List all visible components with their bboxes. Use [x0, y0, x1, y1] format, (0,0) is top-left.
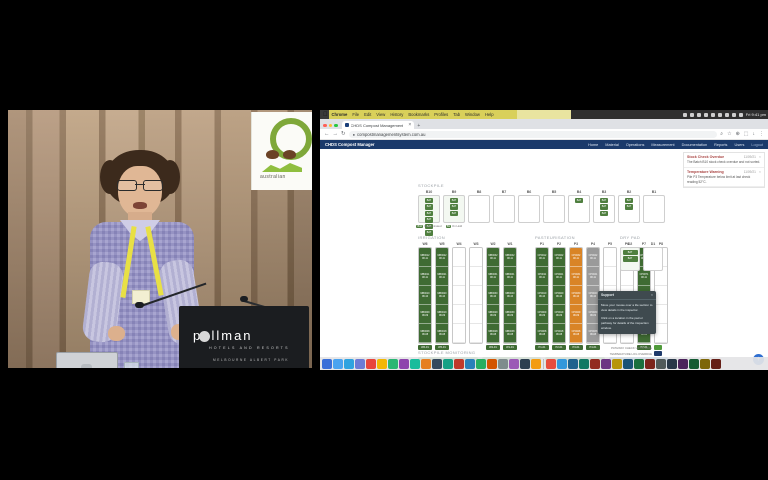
dock-app-icon[interactable] — [355, 359, 365, 369]
irrigation-cell-date: 08-09 — [490, 314, 496, 317]
maximize-window-icon[interactable] — [334, 124, 338, 128]
pasteurisation-cell-date: 08-08 — [590, 333, 596, 336]
stockpile-batch-chip[interactable]: BAT — [425, 204, 434, 210]
irrigation-cell-stack: MB003208-11MB003108-11MB003008-10MB00290… — [486, 247, 500, 344]
menu-help[interactable]: Help — [485, 112, 494, 117]
irrigation-cell[interactable]: MB003808-08 — [504, 324, 516, 343]
stockpile-bin-label: B9 — [443, 190, 465, 194]
tooltip-paragraph-2: Click on a location in the pad or pathwa… — [598, 316, 656, 334]
minimize-window-icon[interactable] — [329, 124, 333, 128]
irrigation-cell[interactable] — [453, 305, 465, 324]
dock-app-icon[interactable] — [509, 359, 519, 369]
alerts-panel: Stock Check Overdue 11/09/21 × The Batch… — [683, 152, 765, 188]
dry-pad-bin-box[interactable] — [643, 247, 663, 271]
irrigation-cell[interactable] — [470, 248, 482, 267]
irrigation-cell[interactable]: MB003008-10 — [487, 286, 499, 305]
irrigation-section: IRRIGATION W6MB001208-11MB001108-11MB001… — [418, 235, 517, 350]
zoom-search-icon[interactable]: ⌕ — [720, 131, 723, 137]
irrigation-cell-date: 08-10 — [490, 295, 496, 298]
pasteurisation-column[interactable]: P3CP003208-11CP003108-11CP003008-10CP002… — [569, 242, 583, 350]
irrigation-cell[interactable] — [470, 305, 482, 324]
alert-header: Temperature Warning 11/09/21 × — [687, 170, 761, 174]
dock-app-icon[interactable] — [531, 359, 541, 369]
app-brand[interactable]: CHDS Compost Manager — [325, 142, 375, 147]
stockpile-bin-label: B1 — [643, 190, 665, 194]
pasteurisation-column-label: P4 — [586, 242, 600, 246]
irrigation-cell-date: 08-08 — [439, 333, 445, 336]
irrigation-cell[interactable]: MB004008-10 — [504, 286, 516, 305]
dock-app-icon[interactable] — [590, 359, 600, 369]
stockpile-bin-box[interactable] — [643, 195, 665, 223]
presenter — [86, 150, 194, 368]
stockpile-bins: B10BATBATBATBATBATBATB10ContaminatedB9BA… — [418, 190, 668, 228]
menu-history[interactable]: History — [390, 112, 403, 117]
nav-documentation[interactable]: Documentation — [682, 143, 708, 147]
nav-measurement[interactable]: Measurement — [651, 143, 674, 147]
stockpile-bin-footer-chip: B9 — [446, 225, 451, 228]
address-bar-url: compostmanagementsystem.com.au — [357, 132, 425, 137]
dock-app-icon[interactable] — [645, 359, 655, 369]
pasteurisation-cell-date: 08-10 — [556, 295, 562, 298]
app-content: Stock Check Overdue 11/09/21 × The Batch… — [320, 149, 768, 370]
irrigation-cell[interactable]: MB002208-11 — [436, 248, 448, 267]
pasteurisation-column-label: P2 — [552, 242, 566, 246]
dock-app-icon[interactable] — [487, 359, 497, 369]
irrigation-cell[interactable]: MB003108-11 — [487, 267, 499, 286]
pasteurisation-cell[interactable]: CP002108-11 — [553, 267, 565, 286]
pasteurisation-cell-stack: CP001208-11CP001108-11CP001008-10CP00090… — [535, 247, 549, 344]
dock-app-icon[interactable] — [623, 359, 633, 369]
browser-tab-strip: CHDS Compost Management × + — [320, 119, 768, 129]
stockpile-bin-label: B2 — [618, 190, 640, 194]
water-glass — [124, 362, 139, 368]
dock-app-icon[interactable] — [443, 359, 453, 369]
chrome-menu-icon[interactable]: ⋮ — [759, 131, 764, 137]
stockpile-bin[interactable]: B2BATBAT — [618, 190, 640, 223]
dry-pad-bin-label: D2 — [620, 242, 640, 246]
menu-bar-status-items: Fri 9:41 pm — [683, 110, 766, 119]
stockpile-bin[interactable]: B10BATBATBATBATBATBATB10Contaminated — [418, 190, 440, 228]
pasteurisation-cell[interactable]: CP004108-11 — [587, 267, 599, 286]
irrigation-cell[interactable] — [453, 267, 465, 286]
stockpile-batch-chip[interactable]: BAT — [625, 204, 634, 210]
reload-icon[interactable]: ↻ — [341, 131, 346, 137]
irrigation-cell-date: 08-11 — [507, 257, 513, 260]
menu-bar-clock[interactable]: Fri 9:41 pm — [746, 112, 766, 117]
pasteurisation-cell[interactable]: CP002808-08 — [570, 324, 582, 343]
stockpile-bin-footer-note: Contaminated — [424, 224, 441, 228]
browser-tab-active[interactable]: CHDS Compost Management × — [342, 121, 415, 129]
bluetooth-icon[interactable] — [711, 113, 715, 117]
alert-dismiss-icon[interactable]: × — [759, 170, 761, 174]
shared-screen-pane:  Chrome File Edit View History Bookmark… — [320, 110, 768, 370]
irrigation-cell-date: 08-10 — [439, 295, 445, 298]
menu-tab[interactable]: Tab — [453, 112, 460, 117]
stockpile-batch-chip[interactable]: BAT — [450, 211, 459, 217]
wifi-icon[interactable] — [725, 113, 729, 117]
control-center-icon[interactable] — [739, 113, 743, 117]
tab-title: CHDS Compost Management — [351, 123, 404, 128]
forward-icon[interactable]: → — [333, 131, 339, 137]
irrigation-cell-date: 08-10 — [507, 295, 513, 298]
stockpile-bin-box[interactable]: BATBATBATBATBATBAT — [418, 195, 440, 223]
irrigation-cell-date: 08-09 — [422, 314, 428, 317]
dry-pad-section: DRY PAD D2BATBATD1 — [620, 235, 663, 271]
dock-app-icon[interactable] — [546, 359, 556, 369]
pasteurisation-cell-stack: CP003208-11CP003108-11CP003008-10CP00290… — [569, 247, 583, 344]
irrigation-cell-date: 08-08 — [507, 333, 513, 336]
stockpile-bin-label: B4 — [568, 190, 590, 194]
profile-icon[interactable]: ⬚ — [744, 131, 749, 137]
alert-body: The Batch B10 stock check overdue and no… — [687, 160, 761, 165]
extensions-icon[interactable]: ⊕ — [736, 131, 740, 137]
pasteurisation-cell-date: 08-11 — [539, 276, 545, 279]
lectern: pullman HOTELS AND RESORTS MELBOURNE ALB… — [179, 306, 309, 368]
stockpile-bin[interactable]: B1 — [643, 190, 665, 223]
pasteurisation-cell[interactable]: CP000908-09 — [536, 305, 548, 324]
dock-app-icon[interactable] — [333, 359, 343, 369]
dry-pad-batch-chip[interactable]: BAT — [623, 256, 638, 262]
dock-app-icon[interactable] — [432, 359, 442, 369]
pasteurisation-cell[interactable] — [655, 324, 667, 343]
irrigation-cell-stack: MB001208-11MB001108-11MB001008-10MB00090… — [418, 247, 432, 344]
stockpile-bin-box[interactable]: BATBATBAT — [443, 195, 465, 223]
irrigation-cell[interactable] — [453, 248, 465, 267]
alert-item[interactable]: Stock Check Overdue 11/09/21 × The Batch… — [684, 153, 764, 168]
stockpile-bin[interactable]: B3BATBATBAT — [593, 190, 615, 223]
toolbar-right-icons: ⌕ ☆ ⊕ ⬚ ↓ ⋮ — [720, 131, 764, 137]
nav-operations[interactable]: Operations — [626, 143, 645, 147]
bookmark-star-icon[interactable]: ☆ — [727, 131, 731, 137]
irrigation-cell-date: 08-11 — [507, 276, 513, 279]
nav-users[interactable]: Users — [734, 143, 744, 147]
stockpile-bin-footer: B10Contaminated — [418, 224, 440, 228]
downloads-icon[interactable]: ↓ — [753, 131, 756, 137]
battery-icon[interactable] — [718, 113, 722, 117]
irrigation-cell[interactable]: MB002908-09 — [487, 305, 499, 324]
irrigation-cell[interactable] — [453, 324, 465, 343]
dropbox-icon[interactable] — [690, 113, 694, 117]
microphone-head-right-icon — [240, 296, 248, 302]
stockpile-bin-box[interactable]: BATBAT — [618, 195, 640, 223]
menu-view[interactable]: View — [376, 112, 385, 117]
pasteurisation-cell-date: 08-09 — [556, 314, 562, 317]
pasteurisation-cell-date: 08-11 — [573, 257, 579, 260]
alert-item[interactable]: Temperature Warning 11/09/21 × Pile P3 T… — [684, 168, 764, 188]
accessibility-icon[interactable] — [697, 113, 701, 117]
pasteurisation-column[interactable]: P2CP002208-11CP002108-11CP002008-10CP001… — [552, 242, 566, 350]
close-window-icon[interactable] — [323, 124, 327, 128]
back-icon[interactable]: ← — [324, 131, 330, 137]
app-navbar: CHDS Compost Manager Home Material Opera… — [320, 140, 768, 149]
irrigation-cell[interactable]: MB002008-10 — [436, 286, 448, 305]
pasteurisation-cell[interactable]: CP001908-09 — [553, 305, 565, 324]
dock-app-icon[interactable] — [520, 359, 530, 369]
pasteurisation-column-label: P5 — [603, 242, 617, 246]
pasteurisation-cell[interactable]: CP000808-08 — [536, 324, 548, 343]
tooltip-close-icon[interactable]: × — [651, 293, 653, 297]
irrigation-column-label: W1 — [503, 242, 517, 246]
irrigation-cell[interactable] — [470, 324, 482, 343]
stockpile-bin[interactable]: B6 — [518, 190, 540, 223]
pasteurisation-cell-date: 08-11 — [573, 276, 579, 279]
dock-app-icon[interactable] — [678, 359, 688, 369]
stockpile-bin-box[interactable] — [518, 195, 540, 223]
irrigation-cell[interactable] — [453, 286, 465, 305]
pasteurisation-cell-date: 08-11 — [590, 257, 596, 260]
alert-body: Pile P3 Temperature below limit at last … — [687, 175, 761, 185]
irrigation-cell[interactable]: MB001208-11 — [419, 248, 431, 267]
macos-dock[interactable] — [320, 357, 768, 370]
address-bar[interactable]: ● compostmanagementsystem.com.au — [349, 131, 718, 138]
stockpile-batch-chip[interactable]: BAT — [600, 198, 609, 204]
stockpile-bin[interactable]: B4BAT — [568, 190, 590, 223]
stockpile-title: STOCKPILE — [418, 183, 668, 188]
irrigation-columns: W6MB001208-11MB001108-11MB001008-10MB000… — [418, 242, 517, 350]
dry-pad-bin-box[interactable]: BATBAT — [620, 247, 640, 271]
irrigation-cell[interactable]: MB001008-10 — [419, 286, 431, 305]
stockpile-batch-chip[interactable]: BAT — [425, 198, 434, 204]
alert-title: Temperature Warning — [687, 170, 724, 174]
irrigation-cell[interactable]: MB002108-11 — [436, 267, 448, 286]
stockpile-bin[interactable]: B5 — [543, 190, 565, 223]
irrigation-cell-date: 08-09 — [507, 314, 513, 317]
browser-toolbar: ← → ↻ ● compostmanagementsystem.com.au ⌕… — [320, 129, 768, 140]
presenter-glasses-icon — [117, 180, 163, 189]
pasteurisation-cell-date: 08-09 — [573, 314, 579, 317]
irrigation-cell-date: 08-11 — [490, 257, 496, 260]
nav-home[interactable]: Home — [588, 143, 598, 147]
pasteurisation-cell-date: 08-08 — [539, 333, 545, 336]
tab-favicon-icon — [345, 123, 349, 127]
dry-pad-bin-label: D1 — [643, 242, 663, 246]
support-tooltip: Support × Move your mouse over a tile se… — [598, 291, 656, 334]
stockpile-bin-label: B3 — [593, 190, 615, 194]
pasteurisation-cell-date: 08-09 — [590, 314, 596, 317]
irrigation-cell[interactable]: MB000808-08 — [419, 324, 431, 343]
stockpile-bin-footer: B9On Hold — [443, 224, 465, 228]
presenter-mouth — [133, 202, 147, 209]
bottom-section-title: STOCKPILE MONITORING — [418, 350, 668, 355]
irrigation-column-label: W6 — [418, 242, 432, 246]
laptop-lid — [56, 352, 118, 368]
pasteurisation-cell-date: 08-08 — [556, 333, 562, 336]
stockpile-batch-chip[interactable]: BAT — [450, 198, 459, 204]
tooltip-title: Support — [601, 293, 614, 297]
menu-edit[interactable]: Edit — [364, 112, 371, 117]
irrigation-cell[interactable]: MB001908-09 — [436, 305, 448, 324]
microphone-head-left-icon — [135, 302, 144, 308]
irrigation-column[interactable]: W6MB001208-11MB001108-11MB001008-10MB000… — [418, 242, 432, 350]
lectern-subtitle: HOTELS AND RESORTS — [209, 346, 290, 350]
menu-chrome[interactable]: Chrome — [332, 112, 348, 117]
nav-reports[interactable]: Reports — [714, 143, 727, 147]
stockpile-bin-box[interactable] — [493, 195, 515, 223]
pasteurisation-cell[interactable]: CP002208-11 — [553, 248, 565, 267]
dock-app-icon[interactable] — [700, 359, 710, 369]
irrigation-cell[interactable] — [470, 286, 482, 305]
dock-app-icon[interactable] — [388, 359, 398, 369]
stockpile-bin-box[interactable]: BAT — [568, 195, 590, 223]
pasteurisation-cell-date: 08-10 — [573, 295, 579, 298]
irrigation-column[interactable]: W5MB002208-11MB002108-11MB002008-10MB001… — [435, 242, 449, 350]
pasteurisation-cell[interactable]: CP002008-10 — [553, 286, 565, 305]
stockpile-bin-box[interactable]: BATBATBAT — [593, 195, 615, 223]
irrigation-cell-date: 08-08 — [490, 333, 496, 336]
nav-material[interactable]: Material — [605, 143, 619, 147]
dock-app-icon[interactable] — [612, 359, 622, 369]
irrigation-cell-date: 08-11 — [439, 257, 445, 260]
pasteurisation-cell[interactable]: CP001208-11 — [536, 248, 548, 267]
presenter-face — [118, 166, 162, 218]
dock-app-icon[interactable] — [421, 359, 431, 369]
lectern-location: MELBOURNE ALBERT PARK — [213, 358, 289, 362]
stockpile-bin-box[interactable] — [543, 195, 565, 223]
download-icon[interactable] — [704, 113, 708, 117]
aora-poster: australian — [251, 112, 312, 190]
menu-file[interactable]: File — [352, 112, 359, 117]
irrigation-cell-date: 08-08 — [422, 333, 428, 336]
dock-app-icon[interactable] — [476, 359, 486, 369]
irrigation-cell[interactable]: MB002808-08 — [487, 324, 499, 343]
alert-date: 11/09/21 — [744, 170, 756, 174]
pasteurisation-cell[interactable]: CP001008-10 — [536, 286, 548, 305]
aora-poster-text: australian — [260, 174, 286, 180]
aora-bowl-left-icon — [266, 150, 279, 159]
menu-window[interactable]: Window — [465, 112, 480, 117]
pasteurisation-cell[interactable] — [604, 248, 616, 267]
irrigation-cell[interactable]: MB003908-09 — [504, 305, 516, 324]
irrigation-cell[interactable]: MB004108-11 — [504, 267, 516, 286]
speaker-video-pane: australian — [8, 110, 312, 368]
pasteurisation-cell[interactable] — [655, 305, 667, 324]
screen-share-icon[interactable] — [683, 113, 687, 117]
dry-pad-bin[interactable]: D2BATBAT — [620, 242, 640, 271]
stockpile-bin-footer-note: On Hold — [452, 224, 462, 228]
dock-app-icon[interactable] — [711, 359, 721, 369]
stockpile-batch-chip[interactable]: BAT — [600, 211, 609, 217]
pasteurisation-cell[interactable]: CP002908-09 — [570, 305, 582, 324]
irrigation-column-label: W5 — [435, 242, 449, 246]
presenter-hand-left — [108, 326, 125, 341]
irrigation-column[interactable]: W2MB003208-11MB003108-11MB003008-10MB002… — [486, 242, 500, 350]
irrigation-cell[interactable]: MB004208-11 — [504, 248, 516, 267]
dock-app-icon[interactable] — [399, 359, 409, 369]
stockpile-bin-label: B10 — [418, 190, 440, 194]
pasteurisation-cell-date: 08-11 — [556, 257, 562, 260]
dock-app-icon[interactable] — [667, 359, 677, 369]
dock-app-icon[interactable] — [344, 359, 354, 369]
stockpile-bin-label: B8 — [468, 190, 490, 194]
dock-app-icon[interactable] — [689, 359, 699, 369]
irrigation-cell[interactable]: MB001808-08 — [436, 324, 448, 343]
dock-app-icon[interactable] — [366, 359, 376, 369]
pasteurisation-cell-date: 08-11 — [590, 276, 596, 279]
alert-title: Stock Check Overdue — [687, 155, 724, 159]
aora-leaf-icon — [262, 161, 302, 172]
pasteurisation-cell-date: 08-09 — [539, 314, 545, 317]
irrigation-column[interactable]: W4 — [452, 242, 466, 350]
pasteurisation-cell-date: 08-10 — [590, 295, 596, 298]
dock-app-icon[interactable] — [454, 359, 464, 369]
irrigation-column[interactable]: W1MB004208-11MB004108-11MB004008-10MB003… — [503, 242, 517, 350]
dock-app-icon[interactable] — [465, 359, 475, 369]
stockpile-batch-chip[interactable]: BAT — [425, 217, 434, 223]
stockpile-bin-box[interactable] — [468, 195, 490, 223]
irrigation-cell-date: 08-09 — [439, 314, 445, 317]
stockpile-batch-chip[interactable]: BAT — [575, 198, 584, 204]
pasteurisation-cell-date: 08-10 — [539, 295, 545, 298]
dock-app-icon[interactable] — [634, 359, 644, 369]
stockpile-batch-chip[interactable]: BAT — [625, 198, 634, 204]
dock-app-icon[interactable] — [579, 359, 589, 369]
menu-bookmarks[interactable]: Bookmarks — [408, 112, 429, 117]
dock-app-icon[interactable] — [557, 359, 567, 369]
pasteurisation-cell-date: 08-11 — [539, 257, 545, 260]
dry-pad-bins: D2BATBATD1 — [620, 242, 663, 271]
dock-app-icon[interactable] — [601, 359, 611, 369]
irrigation-cell-stack: MB004208-11MB004108-11MB004008-10MB00390… — [503, 247, 517, 344]
pasteurisation-cell[interactable]: CP004208-11 — [587, 248, 599, 267]
pullman-dot-icon — [199, 331, 210, 342]
search-icon[interactable] — [732, 113, 736, 117]
dock-app-icon[interactable] — [656, 359, 666, 369]
alert-header: Stock Check Overdue 11/09/21 × — [687, 155, 761, 159]
stockpile-bin[interactable]: B8 — [468, 190, 490, 223]
dock-app-icon[interactable] — [498, 359, 508, 369]
menu-profiles[interactable]: Profiles — [434, 112, 448, 117]
pasteurisation-cell[interactable] — [655, 286, 667, 305]
pasteurisation-cell[interactable]: CP003108-11 — [570, 267, 582, 286]
stockpile-bin-label: B5 — [543, 190, 565, 194]
irrigation-cell[interactable]: MB003208-11 — [487, 248, 499, 267]
dry-pad-bin[interactable]: D1 — [643, 242, 663, 271]
dry-pad-title: DRY PAD — [620, 235, 663, 240]
nav-logout[interactable]: Logout — [751, 143, 763, 147]
dock-app-icon[interactable] — [568, 359, 578, 369]
irrigation-column[interactable]: W3 — [469, 242, 483, 350]
pasteurisation-column[interactable]: P1CP001208-11CP001108-11CP001008-10CP000… — [535, 242, 549, 350]
dry-pad-batch-chip[interactable]: BAT — [623, 250, 638, 256]
stockpile-bin-footer-chip: B10 — [416, 225, 423, 228]
stockpile-bin[interactable]: B7 — [493, 190, 515, 223]
dock-app-icon[interactable] — [377, 359, 387, 369]
pasteurisation-cell[interactable]: CP001808-08 — [553, 324, 565, 343]
stockpile-batch-chip[interactable]: BAT — [600, 204, 609, 210]
irrigation-cell[interactable] — [470, 267, 482, 286]
stockpile-batch-chip[interactable]: BAT — [450, 204, 459, 210]
pasteurisation-cell[interactable]: CP003008-10 — [570, 286, 582, 305]
apple-menu-icon[interactable]:  — [323, 112, 328, 118]
pasteurisation-cell-date: 08-08 — [573, 333, 579, 336]
pasteurisation-cell[interactable]: CP003208-11 — [570, 248, 582, 267]
stockpile-bin-label: B7 — [493, 190, 515, 194]
pasteurisation-cell[interactable]: CP001108-11 — [536, 267, 548, 286]
stockpile-batch-chip[interactable]: BAT — [425, 211, 434, 217]
pasteurisation-cell[interactable] — [604, 267, 616, 286]
irrigation-title: IRRIGATION — [418, 235, 517, 240]
tab-close-icon[interactable]: × — [408, 122, 411, 128]
irrigation-cell[interactable]: MB001108-11 — [419, 267, 431, 286]
dock-app-icon[interactable] — [322, 359, 332, 369]
stockpile-bin[interactable]: B9BATBATBATB9On Hold — [443, 190, 465, 228]
dock-app-icon[interactable] — [410, 359, 420, 369]
alert-dismiss-icon[interactable]: × — [759, 155, 761, 159]
pasteurisation-column-label: P1 — [535, 242, 549, 246]
irrigation-cell-date: 08-11 — [439, 276, 445, 279]
tooltip-paragraph-1: Move your mouse over a tile section to v… — [598, 300, 656, 316]
irrigation-cell[interactable]: MB000908-09 — [419, 305, 431, 324]
